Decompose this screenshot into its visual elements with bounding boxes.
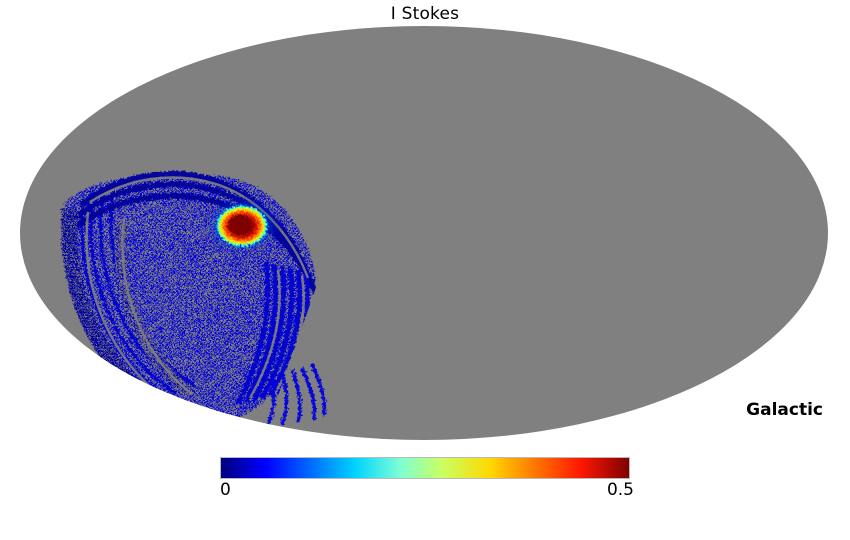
colorbar-gradient: [220, 457, 630, 479]
colorbar: 0 0.5: [220, 457, 630, 504]
coordinate-frame-label: Galactic: [746, 400, 823, 420]
colorbar-min-label: 0: [220, 480, 231, 500]
colorbar-max-label: 0.5: [607, 480, 634, 500]
sky-map-figure: I Stokes: [0, 0, 850, 540]
scan-swath: [61, 174, 317, 424]
sky-ellipse-background: [20, 26, 828, 440]
bright-source-hotspot: [202, 196, 282, 256]
mollweide-projection: [20, 26, 828, 440]
sky-data-layer: [20, 26, 828, 440]
colorbar-ticks: 0 0.5: [220, 480, 630, 504]
page-title: I Stokes: [0, 4, 850, 24]
